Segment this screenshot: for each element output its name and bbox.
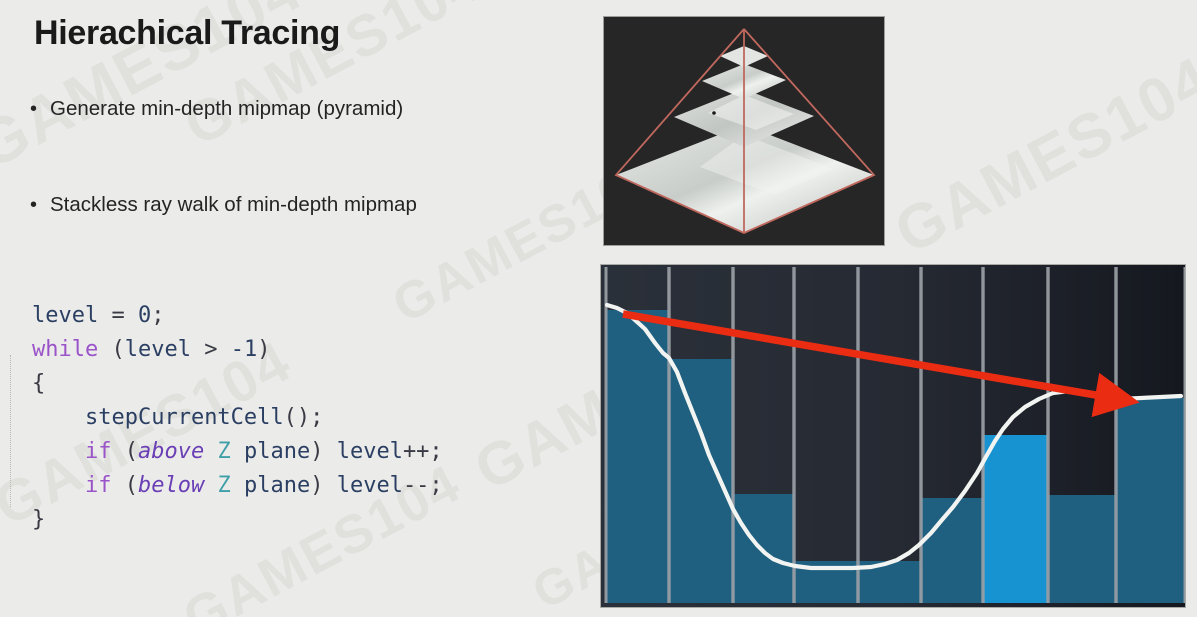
code-line: while (level > -1) bbox=[32, 333, 443, 367]
code-token: below bbox=[138, 473, 204, 498]
bullet-item-2: • Stackless ray walk of min-depth mipmap bbox=[30, 192, 417, 218]
code-token bbox=[32, 405, 85, 430]
code-token: } bbox=[32, 507, 45, 532]
code-token: if bbox=[85, 439, 112, 464]
bullet-text: Stackless ray walk of min-depth mipmap bbox=[50, 192, 417, 218]
mip-bar-highlighted[interactable] bbox=[983, 435, 1048, 603]
code-token: (); bbox=[284, 405, 324, 430]
code-token: ; bbox=[151, 303, 164, 328]
code-token: --; bbox=[403, 473, 443, 498]
ray-walk-diagram bbox=[600, 264, 1186, 608]
watermark-text: GAMES104 bbox=[884, 43, 1197, 269]
code-token bbox=[32, 473, 85, 498]
bullet-text: Generate min-depth mipmap (pyramid) bbox=[50, 96, 403, 122]
bullet-marker: • bbox=[30, 192, 50, 218]
code-token: -1 bbox=[231, 337, 258, 362]
code-block: level = 0;while (level > -1){ stepCurren… bbox=[32, 299, 443, 537]
slide-root: GAMES104GAMES104GAMES104GAMES104GAMES104… bbox=[0, 0, 1197, 617]
code-token: level bbox=[125, 337, 191, 362]
code-token: Z bbox=[217, 473, 230, 498]
mip-bar[interactable] bbox=[606, 310, 669, 603]
code-token: ) bbox=[310, 439, 337, 464]
code-token: stepCurrentCell bbox=[85, 405, 284, 430]
code-token: ( bbox=[111, 473, 138, 498]
code-token: if bbox=[85, 473, 112, 498]
code-token bbox=[231, 439, 244, 464]
code-indent-guide bbox=[10, 355, 12, 507]
mip-bar[interactable] bbox=[1048, 495, 1116, 603]
code-token: > bbox=[191, 337, 231, 362]
code-token: ( bbox=[111, 439, 138, 464]
code-token: ) bbox=[310, 473, 337, 498]
code-token: level bbox=[337, 473, 403, 498]
code-line: { bbox=[32, 367, 443, 401]
code-token: plane bbox=[244, 439, 310, 464]
code-token: above bbox=[138, 439, 204, 464]
mip-bar[interactable] bbox=[669, 359, 733, 603]
code-token: ++; bbox=[403, 439, 443, 464]
code-line: } bbox=[32, 503, 443, 537]
mip-bar[interactable] bbox=[1116, 398, 1185, 603]
code-token: = bbox=[98, 303, 138, 328]
mip-bar[interactable] bbox=[921, 498, 983, 603]
code-line: stepCurrentCell(); bbox=[32, 401, 443, 435]
ray-walk-svg bbox=[601, 265, 1185, 607]
mipmap-pyramid-figure bbox=[603, 16, 885, 246]
page-title: Hierachical Tracing bbox=[34, 14, 340, 53]
pyramid-marker-dot bbox=[712, 111, 716, 115]
code-token: 0 bbox=[138, 303, 151, 328]
pyramid-svg bbox=[604, 17, 884, 245]
code-token: { bbox=[32, 371, 45, 396]
code-line: if (below Z plane) level--; bbox=[32, 469, 443, 503]
code-token bbox=[32, 439, 85, 464]
code-token: level bbox=[337, 439, 403, 464]
code-token bbox=[231, 473, 244, 498]
code-token: ( bbox=[98, 337, 125, 362]
code-token: Z bbox=[217, 439, 230, 464]
code-token bbox=[204, 473, 217, 498]
bullet-marker: • bbox=[30, 96, 50, 122]
code-line: level = 0; bbox=[32, 299, 443, 333]
bullet-item-1: • Generate min-depth mipmap (pyramid) bbox=[30, 96, 403, 122]
code-token: level bbox=[32, 303, 98, 328]
code-token: while bbox=[32, 337, 98, 362]
code-token bbox=[204, 439, 217, 464]
code-line: if (above Z plane) level++; bbox=[32, 435, 443, 469]
code-token: ) bbox=[257, 337, 270, 362]
mip-bar[interactable] bbox=[733, 494, 794, 603]
code-token: plane bbox=[244, 473, 310, 498]
